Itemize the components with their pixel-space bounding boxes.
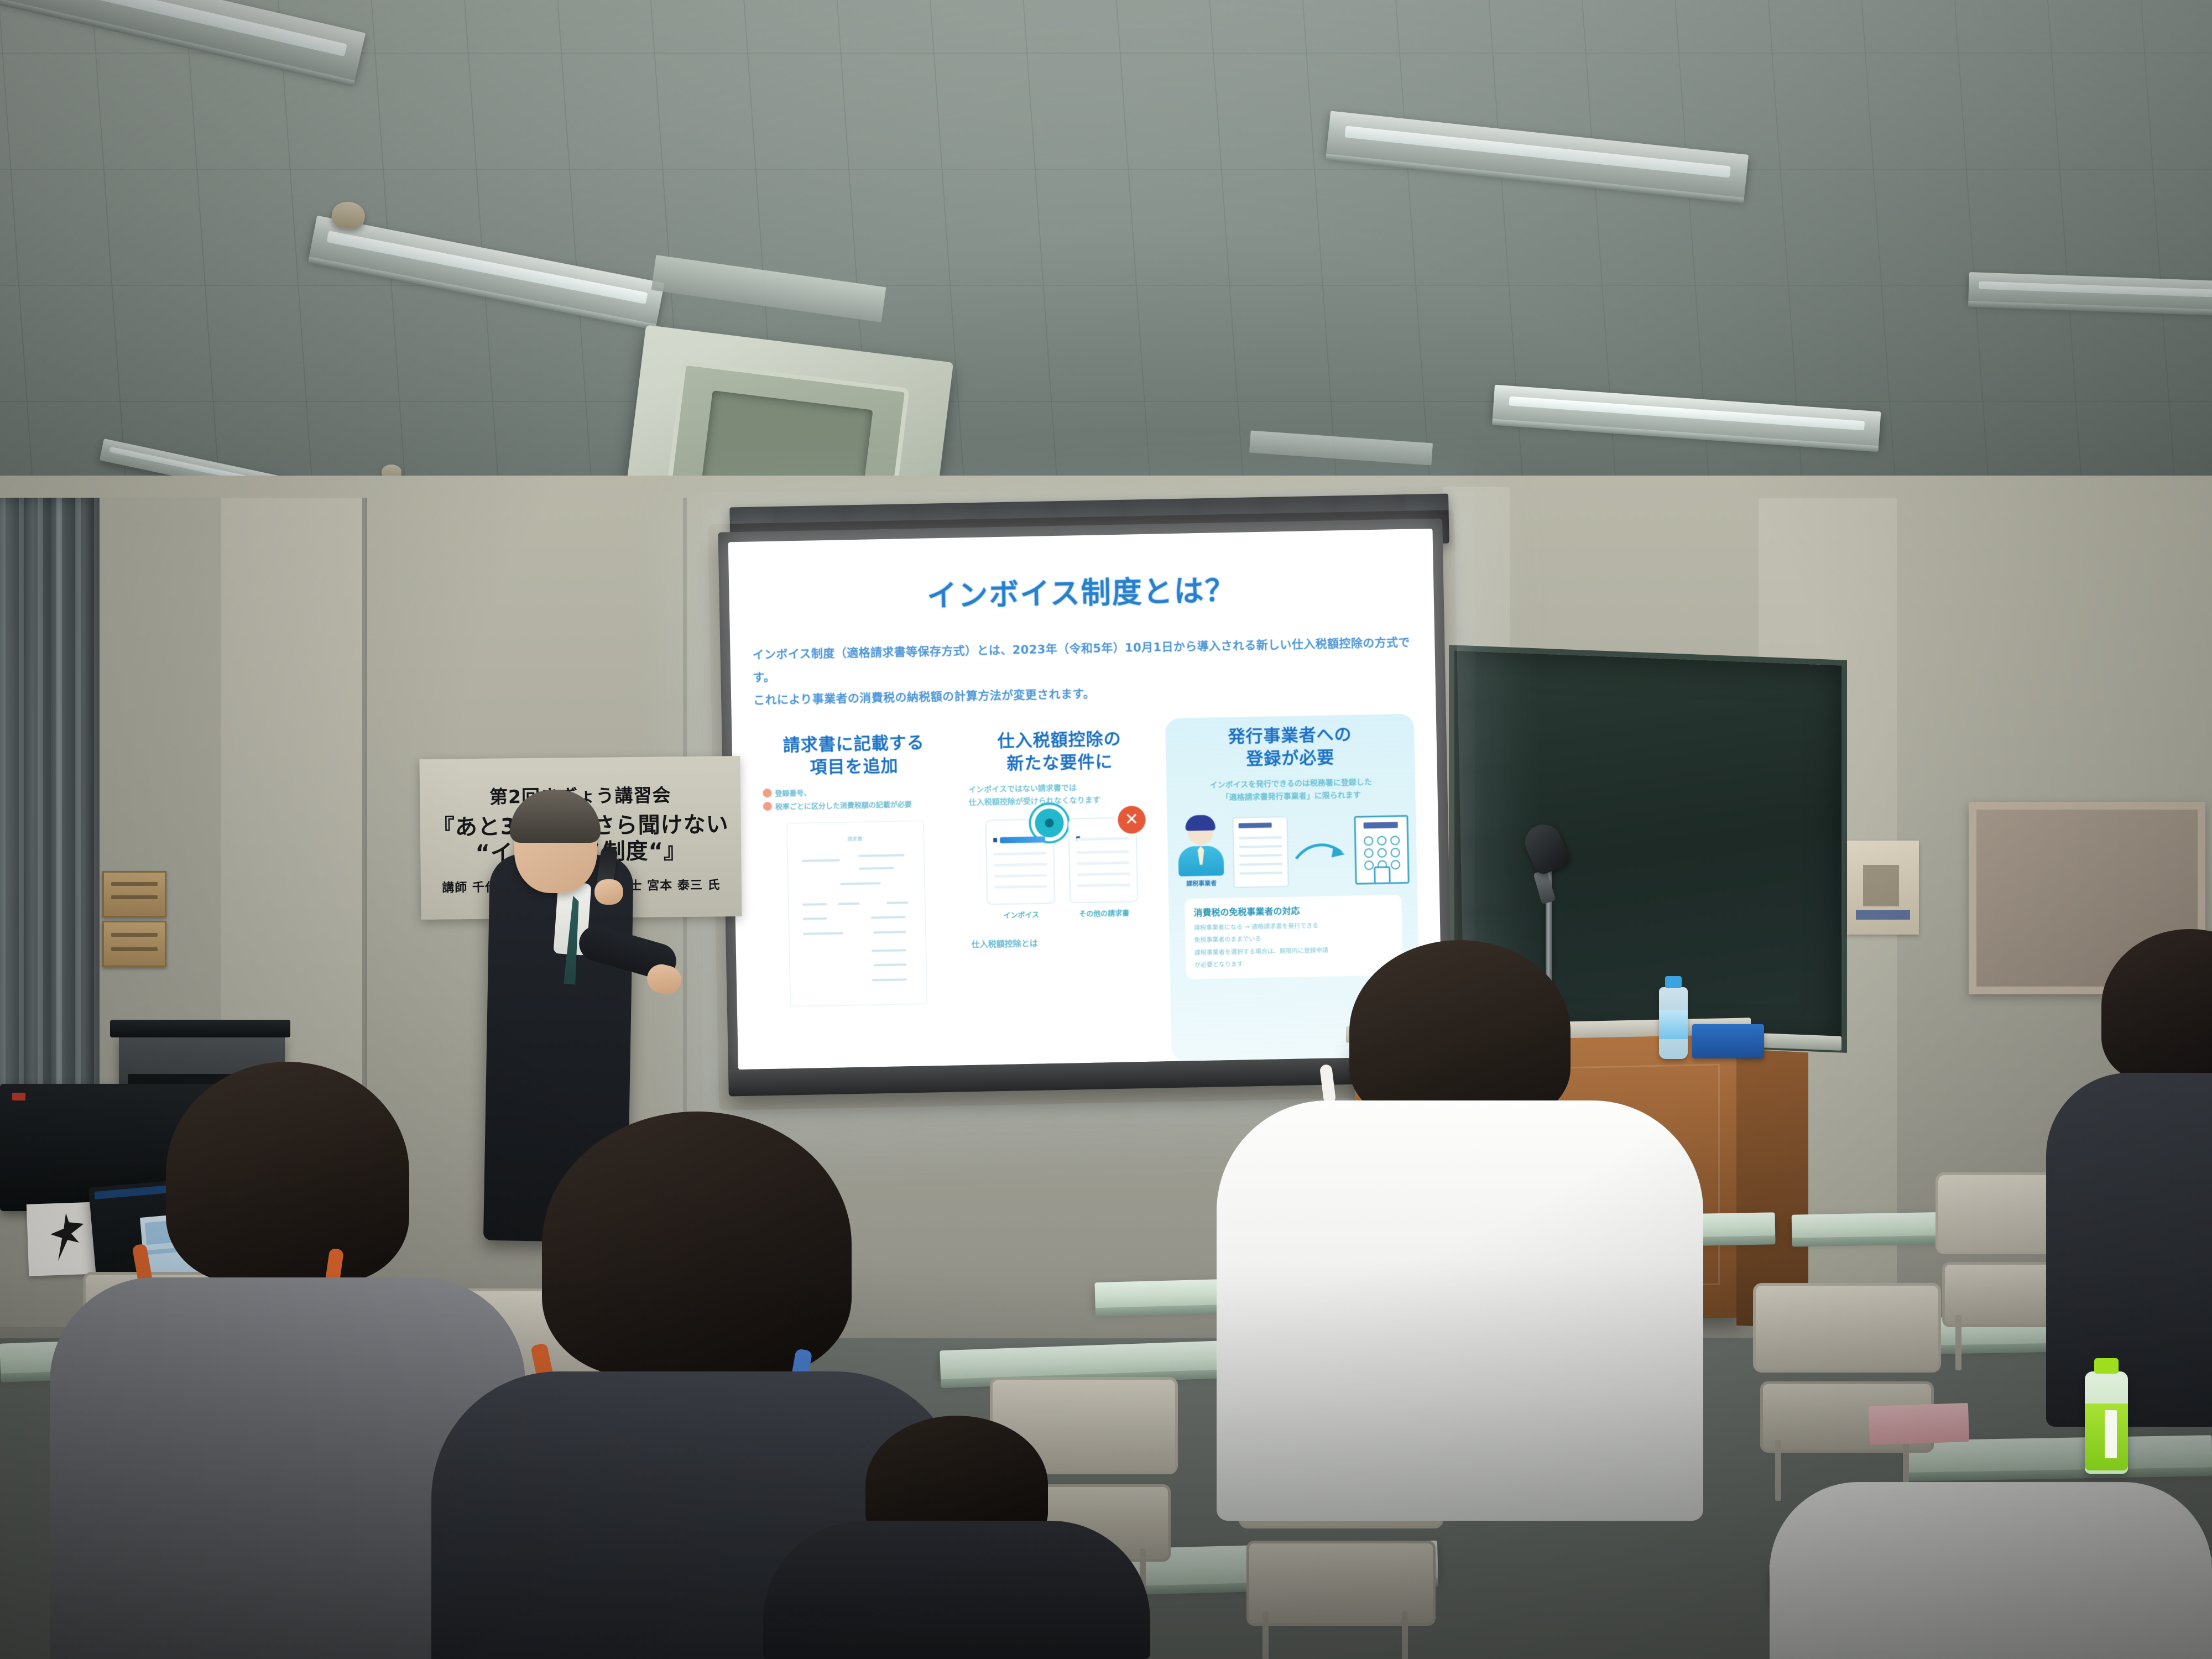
check-circle-icon [1035,808,1064,838]
pink-paper-card [1869,1403,1969,1445]
flow-person-label: 課税事業者 [1176,878,1227,888]
column-1-title-line-1: 請求書に記載する [761,732,946,758]
registration-form-icon [1232,816,1288,888]
invoice-card-ng: ✕ [1068,817,1138,903]
notebox-line-1: 課税事業者になる → 適格請求書を発行できる [1194,920,1394,933]
cross-circle-icon: ✕ [1118,806,1146,834]
audience-member [763,1416,1150,1659]
audience-member [1770,1460,2212,1659]
slide-column-tax-credit: 仕入税額控除の 新たな要件に インボイスではない請求書では 仕入税額控除が受けら… [959,718,1165,1065]
compare-ok-label: インボイス [987,909,1056,920]
compare-ng-label: その他の請求書 [1070,907,1139,919]
column-1-title-line-2: 項目を追加 [762,754,946,780]
wall-notice [1847,841,1919,935]
seminar-room-photo: インボイス制度とは？ インボイス制度（適格請求書等保存方式）とは、2023年（令… [0,0,2212,1659]
ceiling [0,0,2212,553]
compare-ok-group: インボイス [985,818,1055,920]
compare-ng-group: ✕ その他の請求書 [1068,817,1138,919]
audience-member [1211,940,1709,1604]
tax-office-building-icon [1354,815,1409,885]
speaker-mic-hand [594,879,623,905]
column-2-footer-text [972,957,1156,983]
slide-column-invoice-items: 請求書に記載する 項目を追加 登録番号、 税率ごとに区分した消費税額の記載が必要 [754,722,959,1069]
flow-arrow-icon [1295,839,1348,863]
audience-member [2046,929,2212,1427]
doc-caption: 請求書 [847,835,862,843]
wall-plaque [102,871,166,917]
invoice-document-mock: 請求書 [787,820,927,1006]
column-3-title-line-2: 登録が必要 [1173,745,1407,773]
notebox-heading: 消費税の免税事業者の対応 [1193,902,1393,919]
bullet-marker-icon [763,802,772,811]
ceiling-shading [0,0,2212,553]
column-2-footer-heading: 仕入税額控除とは [971,934,1155,953]
invoice-card-ok [985,818,1055,905]
green-tea-bottle [2085,1371,2128,1474]
column-2-title-line-1: 仕入税額控除の [967,728,1151,754]
registration-flow-diagram: 課税事業者 [1175,814,1409,889]
slide-title: インボイス制度とは？ [751,562,1412,619]
taxable-business-person-icon: 課税事業者 [1175,819,1227,888]
wall-plaque [102,921,166,967]
column-2-title-line-2: 新たな要件に [968,750,1152,776]
bullet-marker-icon [763,789,771,797]
face-mask-icon [1319,1064,1336,1104]
